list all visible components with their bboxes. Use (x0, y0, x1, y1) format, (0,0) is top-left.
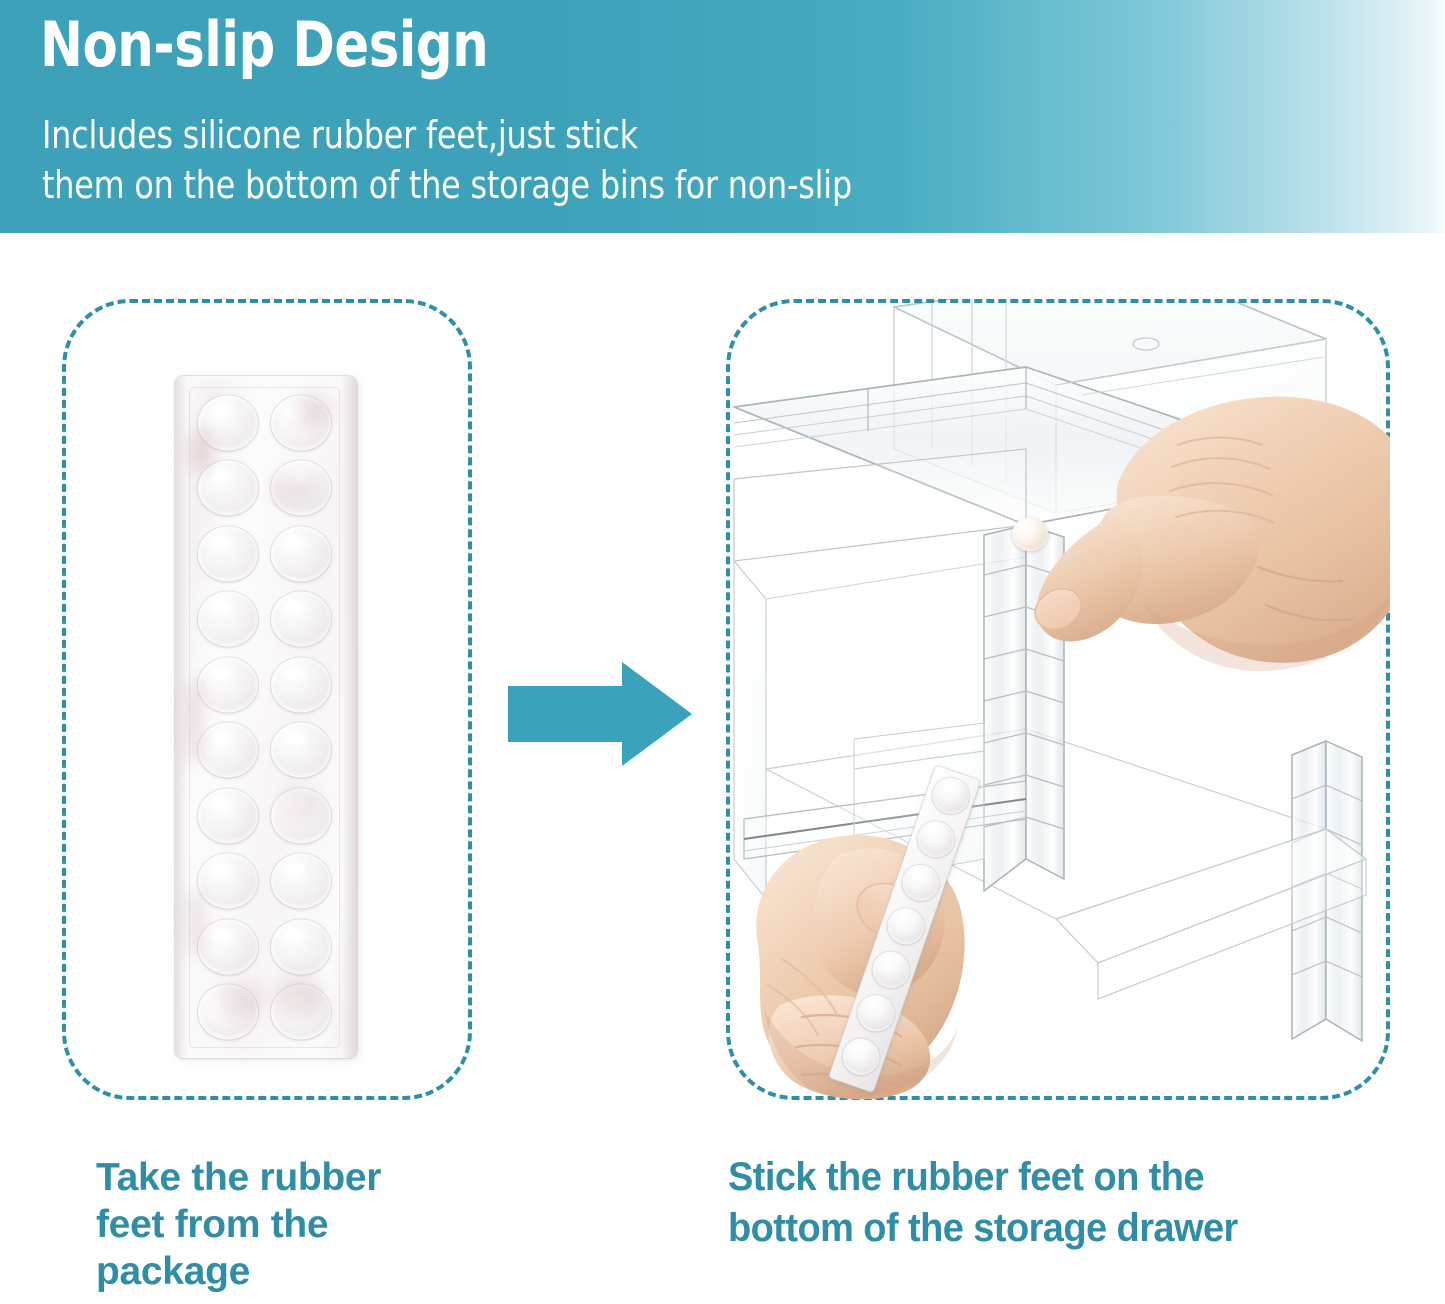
hand-placing-rubber-foot (1022, 391, 1390, 721)
left-caption-line-3: package (96, 1249, 496, 1296)
rubber-foot-dome (265, 652, 339, 718)
rubber-foot-dome (191, 587, 265, 653)
rubber-foot-dome (191, 456, 265, 522)
rubber-foot-dome (191, 849, 265, 915)
rubber-foot-dome (191, 914, 265, 980)
rubber-foot-dome (265, 980, 339, 1046)
left-step-caption: Take the rubber feet from the package (96, 1155, 496, 1295)
rubber-foot-dome (191, 783, 265, 849)
header-banner: Non-slip Design Includes silicone rubber… (0, 0, 1445, 233)
rubber-foot-dome (265, 914, 339, 980)
blister-dome-grid (189, 387, 340, 1048)
subtitle-line-2: them on the bottom of the storage bins f… (42, 160, 852, 210)
left-caption-line-1: Take the rubber (96, 1155, 496, 1202)
rubber-foot-dome (265, 849, 339, 915)
left-caption-line-2: feet from the (96, 1202, 496, 1249)
right-arrow-icon (508, 662, 692, 766)
rubber-foot-dome (265, 390, 339, 456)
rubber-foot-dome (191, 718, 265, 784)
right-caption-line-1: Stick the rubber feet on the (728, 1152, 1393, 1203)
right-step-caption: Stick the rubber feet on the bottom of t… (728, 1152, 1393, 1254)
silicone-rubber-feet-blister-pack (175, 376, 357, 1058)
rubber-foot-dome (265, 783, 339, 849)
rubber-foot-dome (265, 456, 339, 522)
rubber-foot-dome (191, 521, 265, 587)
page-subtitle: Includes silicone rubber feet,just stick… (42, 110, 852, 210)
rubber-foot-dome (191, 652, 265, 718)
rubber-foot-dome (265, 718, 339, 784)
product-infographic: Non-slip Design Includes silicone rubber… (0, 0, 1445, 1304)
subtitle-line-1: Includes silicone rubber feet,just stick (42, 110, 852, 160)
rubber-foot-dome (191, 390, 265, 456)
rubber-foot-dome (191, 980, 265, 1046)
rubber-foot-dome (265, 587, 339, 653)
right-caption-line-2: bottom of the storage drawer (728, 1203, 1393, 1254)
page-title: Non-slip Design (40, 12, 488, 77)
rubber-foot-dome (265, 521, 339, 587)
